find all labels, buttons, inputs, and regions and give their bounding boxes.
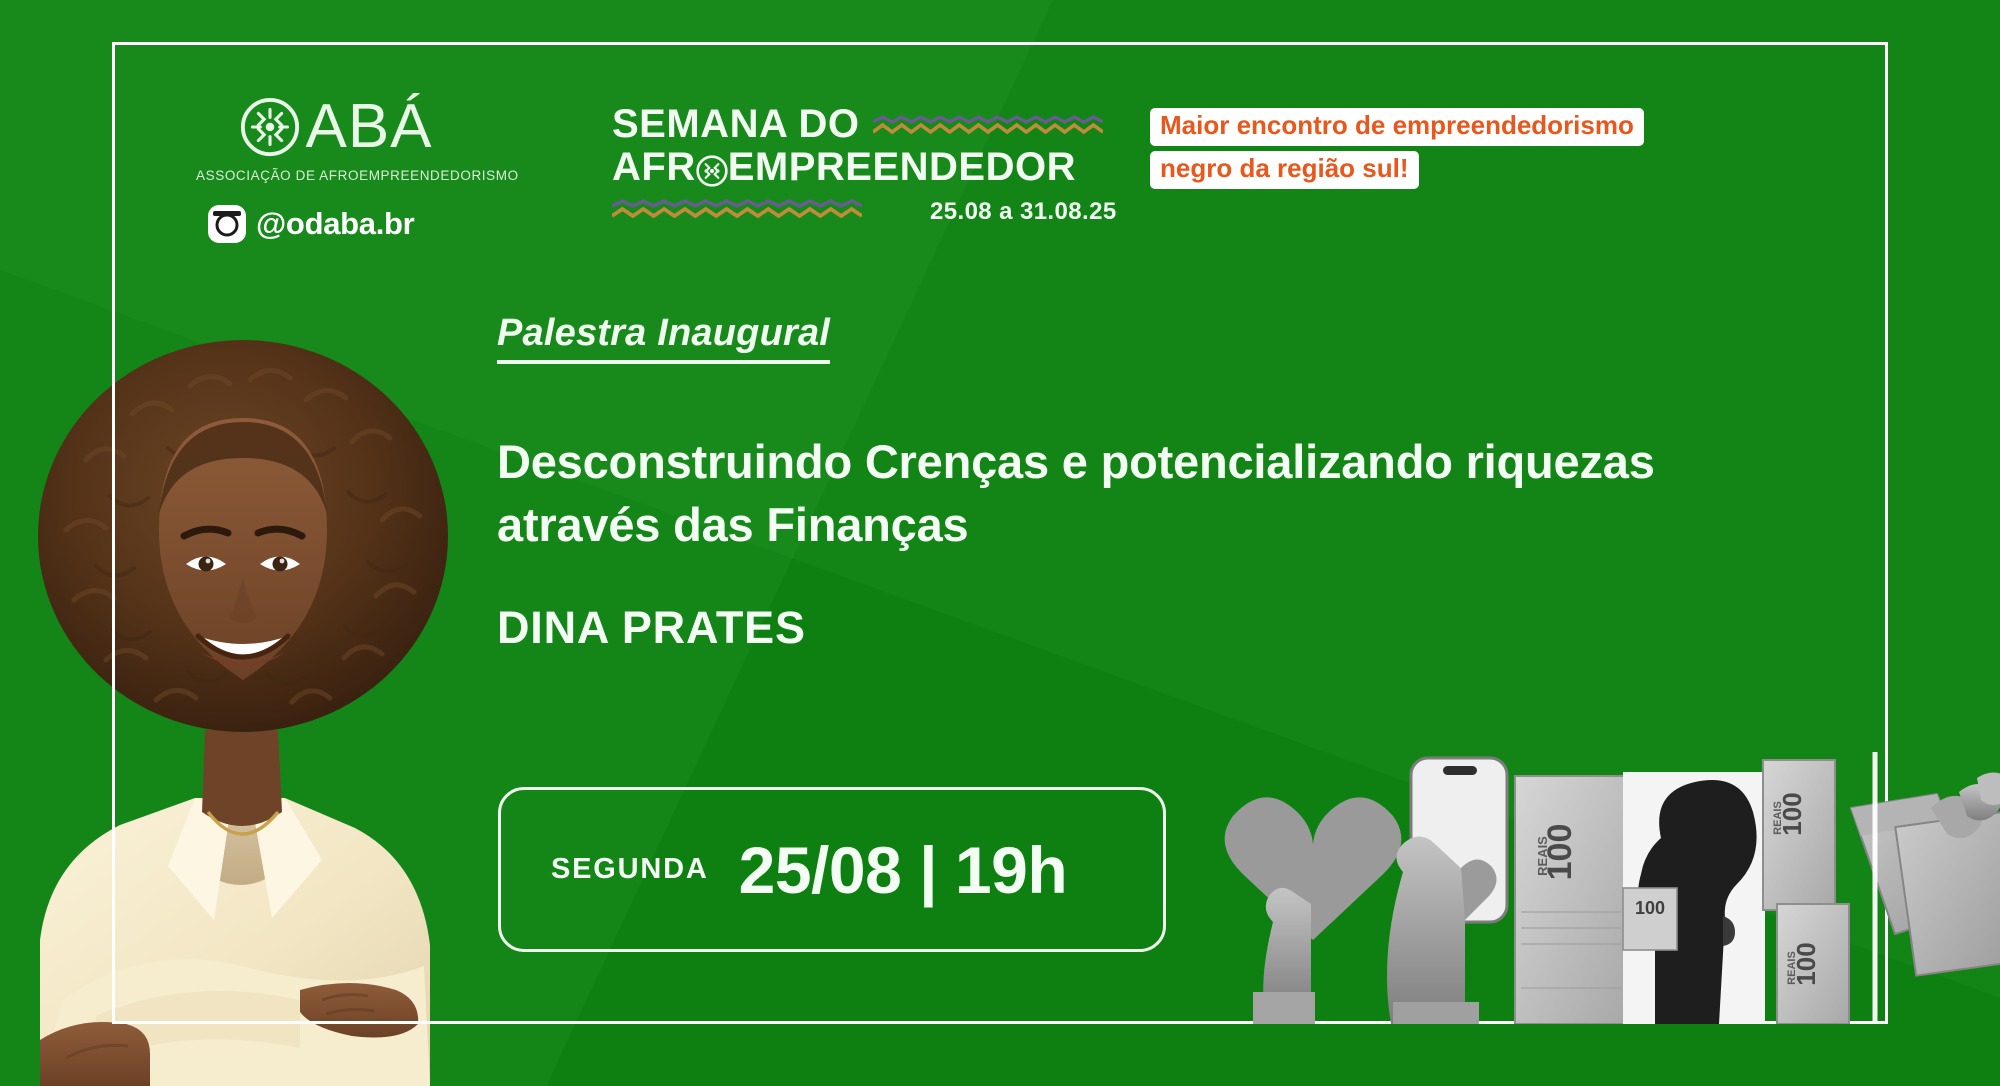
odaba-logo: ABÁ ASSOCIAÇÃO DE AFROEMPREENDEDORISMO	[196, 96, 476, 183]
session-kicker: Palestra Inaugural	[497, 312, 830, 364]
speaker-name: DINA PRATES	[497, 602, 806, 654]
event-title-line2-prefix: AFR	[612, 147, 696, 188]
tagline-line-1: Maior encontro de empreendedorismo	[1150, 108, 1644, 146]
tile-banknote-100-reais-left: 100 REAIS	[1515, 776, 1627, 1024]
afro-o-emblem-icon	[695, 154, 729, 188]
instagram-handle[interactable]: @odaba.br	[256, 206, 414, 242]
instagram-icon[interactable]	[208, 205, 246, 243]
event-title-line2-suffix: EMPREENDEDOR	[728, 147, 1076, 188]
event-title-line1: SEMANA DO	[612, 104, 859, 145]
logo-letters: ABÁ	[305, 96, 432, 158]
svg-text:REAIS: REAIS	[1772, 801, 1784, 835]
tile-hand-holding-heart	[1225, 797, 1402, 1024]
poster-canvas: ABÁ ASSOCIAÇÃO DE AFROEMPREENDEDORISMO @…	[0, 0, 2000, 1086]
session-datetime-box: SEGUNDA 25/08 | 19h	[498, 787, 1166, 952]
session-weekday: SEGUNDA	[551, 853, 709, 886]
zigzag-decoration-top	[873, 114, 1103, 136]
session-datetime: 25/08 | 19h	[739, 832, 1068, 908]
event-title-block: SEMANA DO AFR EMPREENDEDOR 25.08 a 31.08…	[612, 104, 1192, 188]
svg-text:100: 100	[1635, 898, 1665, 918]
odaba-emblem-icon	[239, 96, 301, 158]
finance-collage: 100 REAIS 100 100 REAIS	[1215, 752, 2000, 1024]
zigzag-decoration-bottom	[612, 198, 862, 220]
tile-banknote-100-reais-lower: 100 REAIS	[1777, 904, 1849, 1024]
logo-wordmark: ABÁ	[196, 96, 476, 158]
tile-banknote-100-reais-tall: 100 REAIS	[1763, 760, 1835, 910]
tile-hand-holding-smartphone	[1387, 758, 1507, 1024]
tile-child-profile-silhouette: 100	[1623, 772, 1765, 1024]
tagline-line-2: negro da região sul!	[1150, 151, 1419, 189]
speaker-portrait-photo	[0, 300, 480, 1086]
talk-title: Desconstruindo Crenças e potencializando…	[497, 430, 1817, 557]
logo-subtitle: ASSOCIAÇÃO DE AFROEMPREENDEDORISMO	[196, 168, 476, 183]
collage-artwork: 100 REAIS 100 100 REAIS	[1215, 752, 2000, 1024]
svg-text:REAIS: REAIS	[1535, 836, 1550, 876]
instagram-row[interactable]: @odaba.br	[208, 205, 414, 243]
event-date-range: 25.08 a 31.08.25	[930, 198, 1117, 226]
event-tagline: Maior encontro de empreendedorismo negro…	[1150, 108, 1644, 189]
svg-text:REAIS: REAIS	[1786, 951, 1798, 985]
